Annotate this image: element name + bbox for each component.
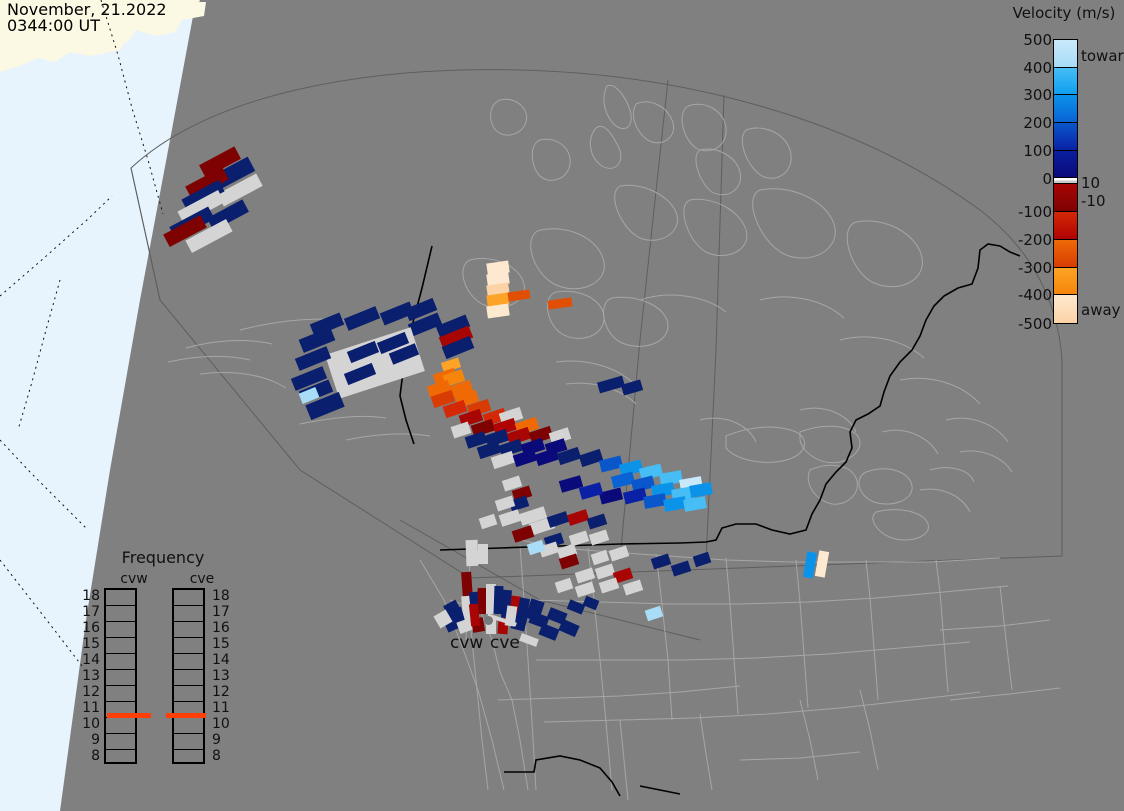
velocity-cell bbox=[591, 550, 610, 565]
frequency-segment bbox=[106, 686, 135, 702]
frequency-segment bbox=[174, 734, 203, 750]
frequency-tick: 10 bbox=[212, 716, 230, 732]
colorbar-tick: -200 bbox=[1018, 231, 1052, 249]
frequency-tick: 9 bbox=[80, 732, 100, 748]
frequency-tick: 17 bbox=[80, 604, 100, 620]
frequency-tick: 16 bbox=[212, 620, 230, 636]
velocity-cell bbox=[575, 567, 596, 583]
velocity-cell bbox=[478, 544, 488, 564]
colorbar-upper-gate-label: 10 bbox=[1081, 174, 1100, 192]
frequency-segment bbox=[106, 606, 135, 622]
velocity-cell bbox=[479, 514, 498, 529]
frequency-tick: 16 bbox=[80, 620, 100, 636]
velocity-cell bbox=[538, 623, 559, 641]
frequency-tick: 10 bbox=[80, 716, 100, 732]
frequency-segment bbox=[174, 638, 203, 654]
colorbar-tick: 400 bbox=[1023, 59, 1052, 77]
colorbar-toward-label: toward bbox=[1081, 47, 1124, 65]
velocity-cell bbox=[683, 496, 707, 512]
velocity-cell bbox=[519, 633, 539, 647]
velocity-colorbar: Velocity (m/s) 5004003002001000-100-200-… bbox=[995, 4, 1124, 334]
velocity-cell bbox=[583, 596, 600, 611]
frequency-tick: 11 bbox=[80, 700, 100, 716]
colorbar-tick: 300 bbox=[1023, 86, 1052, 104]
frequency-tick: 13 bbox=[80, 668, 100, 684]
frequency-tick: 15 bbox=[80, 636, 100, 652]
timestamp-overlay: November, 21.2022 0344:00 UT bbox=[7, 2, 167, 34]
colorbar-title: Velocity (m/s) bbox=[1003, 4, 1124, 22]
velocity-cell bbox=[499, 509, 522, 527]
colorbar-tick: -300 bbox=[1018, 259, 1052, 277]
frequency-tick: 15 bbox=[212, 636, 230, 652]
colorbar-away-label: away bbox=[1081, 301, 1121, 319]
frequency-segment bbox=[174, 654, 203, 670]
velocity-cell bbox=[599, 488, 623, 505]
radar-map-canvas: cvw cve November, 21.2022 0344:00 UT Vel… bbox=[0, 0, 1124, 811]
radar-station-marker bbox=[484, 616, 493, 625]
velocity-cell bbox=[645, 606, 664, 621]
velocity-cell bbox=[589, 529, 610, 545]
colorbar-band bbox=[1054, 151, 1077, 179]
frequency-tick: 14 bbox=[80, 652, 100, 668]
frequency-segment bbox=[106, 718, 135, 734]
frequency-column-cvw: cvw18171615141312111098 bbox=[104, 570, 164, 764]
colorbar-gradient-strip bbox=[1053, 39, 1078, 324]
frequency-tick: 11 bbox=[212, 700, 230, 716]
velocity-cell bbox=[671, 560, 692, 576]
frequency-segment bbox=[174, 622, 203, 638]
frequency-column-cve: cve18171615141312111098 bbox=[172, 570, 232, 764]
colorbar-band bbox=[1054, 40, 1077, 68]
velocity-cell bbox=[567, 509, 589, 526]
velocity-cell bbox=[689, 482, 713, 498]
velocity-cell bbox=[512, 525, 535, 543]
frequency-segment bbox=[174, 590, 203, 606]
velocity-cell bbox=[558, 619, 579, 637]
velocity-cell bbox=[595, 563, 616, 579]
colorbar-tick: 200 bbox=[1023, 114, 1052, 132]
site-label-cve: cve bbox=[490, 633, 520, 653]
frequency-segment bbox=[174, 670, 203, 686]
colorbar-band bbox=[1054, 295, 1077, 323]
velocity-cell bbox=[547, 511, 569, 528]
colorbar-band bbox=[1054, 240, 1077, 268]
colorbar-lower-gate-label: -10 bbox=[1081, 192, 1106, 210]
frequency-tick: 12 bbox=[80, 684, 100, 700]
velocity-cell bbox=[815, 550, 829, 577]
frequency-tick: 13 bbox=[212, 668, 230, 684]
colorbar-tick: 0 bbox=[1042, 170, 1052, 188]
velocity-cell bbox=[507, 290, 530, 302]
colorbar-tick: -100 bbox=[1018, 203, 1052, 221]
velocity-cell bbox=[567, 599, 586, 614]
velocity-cell bbox=[621, 379, 643, 395]
frequency-segment bbox=[106, 734, 135, 750]
frequency-segment bbox=[106, 670, 135, 686]
frequency-segment bbox=[174, 686, 203, 702]
colorbar-band bbox=[1054, 268, 1077, 296]
velocity-cell bbox=[344, 306, 380, 331]
frequency-tick: 18 bbox=[212, 588, 230, 604]
velocity-cell bbox=[295, 346, 331, 371]
frequency-tick: 8 bbox=[212, 748, 221, 764]
colorbar-tick: 500 bbox=[1023, 31, 1052, 49]
colorbar-band bbox=[1054, 68, 1077, 96]
velocity-cell bbox=[555, 578, 574, 593]
colorbar-tick: 100 bbox=[1023, 142, 1052, 160]
colorbar-band bbox=[1054, 212, 1077, 240]
site-label-cvw: cvw bbox=[450, 633, 483, 653]
colorbar-tick: -500 bbox=[1018, 315, 1052, 333]
velocity-cell bbox=[609, 545, 630, 561]
colorbar-band bbox=[1054, 95, 1077, 123]
frequency-tick: 8 bbox=[80, 748, 100, 764]
frequency-scale-box bbox=[172, 588, 205, 764]
frequency-legend-title: Frequency bbox=[88, 548, 238, 567]
colorbar-tick: -400 bbox=[1018, 286, 1052, 304]
velocity-cell bbox=[587, 513, 608, 529]
colorbar-band bbox=[1054, 123, 1077, 151]
frequency-column-label: cvw bbox=[104, 570, 164, 588]
frequency-segment bbox=[106, 654, 135, 670]
velocity-cell bbox=[651, 553, 672, 569]
frequency-segment bbox=[174, 750, 203, 766]
velocity-cell bbox=[693, 552, 712, 567]
frequency-marker bbox=[107, 713, 151, 718]
frequency-scale-box bbox=[104, 588, 137, 764]
frequency-segment bbox=[106, 638, 135, 654]
frequency-segment bbox=[106, 590, 135, 606]
frequency-segment bbox=[174, 606, 203, 622]
velocity-cell bbox=[325, 327, 425, 399]
frequency-segment bbox=[106, 750, 135, 766]
colorbar-band bbox=[1054, 184, 1077, 212]
velocity-cell bbox=[466, 540, 479, 566]
frequency-tick: 17 bbox=[212, 604, 230, 620]
velocity-cell bbox=[575, 581, 596, 597]
frequency-marker bbox=[166, 713, 206, 718]
velocity-cell bbox=[486, 304, 509, 319]
velocity-cell bbox=[623, 579, 644, 595]
frequency-legend: Frequency cvw18171615141312111098cve1817… bbox=[88, 548, 238, 788]
frequency-tick: 14 bbox=[212, 652, 230, 668]
frequency-segment bbox=[174, 718, 203, 734]
velocity-cell bbox=[547, 297, 572, 309]
velocity-cell bbox=[599, 577, 620, 593]
frequency-tick: 18 bbox=[80, 588, 100, 604]
frequency-column-label: cve bbox=[172, 570, 232, 588]
frequency-segment bbox=[106, 622, 135, 638]
frequency-tick: 12 bbox=[212, 684, 230, 700]
frequency-tick: 9 bbox=[212, 732, 221, 748]
